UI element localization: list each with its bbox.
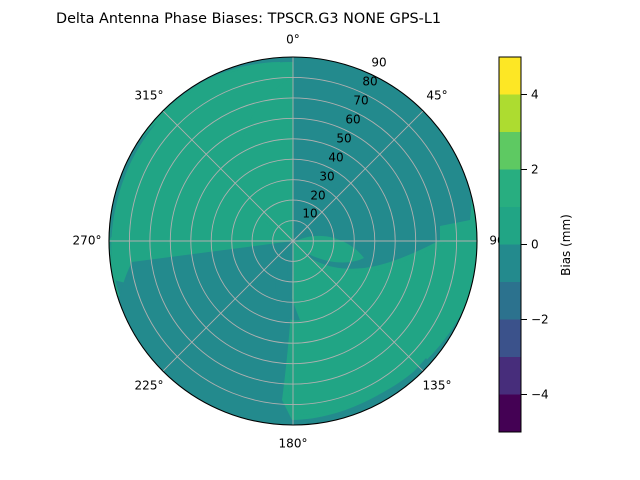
angle-label-225: 225° bbox=[135, 379, 164, 393]
colorbar-band-neg5-neg4 bbox=[499, 395, 521, 433]
colorbar-axis-label: Bias (mm) bbox=[559, 214, 573, 276]
radial-label-80: 80 bbox=[362, 75, 377, 89]
radial-label-50: 50 bbox=[336, 132, 351, 146]
radial-label-90: 90 bbox=[371, 56, 386, 70]
colorbar-band-4-5 bbox=[499, 57, 521, 95]
colorbar-tick-label-neg4: −4 bbox=[531, 388, 549, 402]
radial-label-10: 10 bbox=[302, 207, 317, 221]
polar-grid bbox=[109, 57, 477, 425]
colorbar-band-neg1-0 bbox=[499, 245, 521, 283]
angle-label-315: 315° bbox=[135, 89, 164, 103]
angle-label-180: 180° bbox=[279, 437, 308, 451]
radial-label-60: 60 bbox=[345, 113, 360, 127]
page-title: Delta Antenna Phase Biases: TPSCR.G3 NON… bbox=[56, 11, 441, 27]
radial-label-20: 20 bbox=[310, 189, 325, 203]
colorbar-band-3-4 bbox=[499, 95, 521, 133]
colorbar-bands bbox=[499, 57, 521, 432]
radial-label-40: 40 bbox=[328, 151, 343, 165]
colorbar-band-1-2 bbox=[499, 170, 521, 208]
colorbar-band-neg2-neg1 bbox=[499, 282, 521, 320]
colorbar-band-0-1 bbox=[499, 207, 521, 245]
colorbar-tick-label-2: 2 bbox=[531, 163, 539, 177]
radial-label-70: 70 bbox=[353, 94, 368, 108]
polar-plot[interactable]: 0° 45° 90 135° 180° 225° 270° 315° 10 20… bbox=[73, 33, 505, 451]
colorbar-tick-label-4: 4 bbox=[531, 88, 539, 102]
angle-label-270: 270° bbox=[73, 234, 102, 248]
angle-label-135: 135° bbox=[423, 379, 452, 393]
radial-label-30: 30 bbox=[319, 170, 334, 184]
angle-label-45: 45° bbox=[426, 89, 447, 103]
colorbar-tick-label-neg2: −2 bbox=[531, 313, 549, 327]
colorbar-band-2-3 bbox=[499, 132, 521, 170]
colorbar-band-neg3-neg2 bbox=[499, 320, 521, 358]
colorbar-band-neg4-neg3 bbox=[499, 357, 521, 395]
figure-canvas: Delta Antenna Phase Biases: TPSCR.G3 NON… bbox=[0, 0, 640, 480]
angle-label-0: 0° bbox=[286, 33, 300, 47]
colorbar-tick-label-0: 0 bbox=[531, 238, 539, 252]
